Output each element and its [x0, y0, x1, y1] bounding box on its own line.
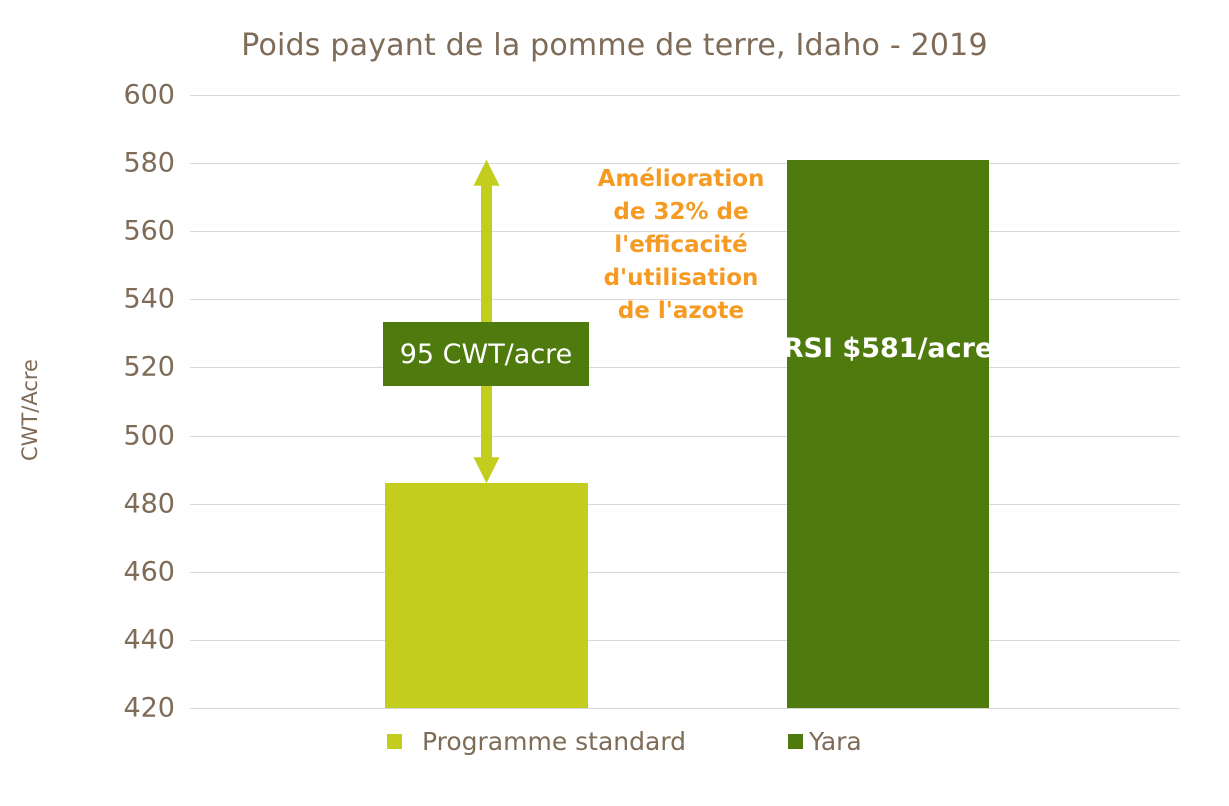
chart-title: Poids payant de la pomme de terre, Idaho… [0, 28, 1229, 63]
y-axis-tick-labels: 600580560540520500480460440420 [95, 95, 175, 708]
legend-label: Programme standard [422, 727, 686, 756]
annotation-line-1: Amélioration [583, 163, 779, 196]
gridline [190, 572, 1180, 573]
chart-container: Poids payant de la pomme de terre, Idaho… [0, 0, 1229, 806]
gridline [190, 640, 1180, 641]
yara-value-label-box: RSI $581/acre [787, 322, 989, 374]
gridline [190, 95, 1180, 96]
gridline [190, 708, 1180, 709]
difference-label-box: 95 CWT/acre [383, 322, 589, 386]
y-axis-tick-label: 580 [95, 148, 175, 179]
y-axis-tick-label: 480 [95, 488, 175, 519]
legend-label: Yara [809, 727, 862, 756]
annotation-line-4: d'utilisation [583, 262, 779, 295]
bar-yara[interactable] [787, 160, 989, 708]
y-axis-title-text: CWT/Acre [18, 359, 42, 461]
yara-value-label-text: RSI $581/acre [783, 333, 994, 364]
y-axis-tick-label: 440 [95, 624, 175, 655]
chart-legend: Programme standard Yara [0, 724, 1229, 758]
gridline [190, 436, 1180, 437]
difference-label-text: 95 CWT/acre [400, 339, 573, 370]
y-axis-tick-label: 500 [95, 420, 175, 451]
y-axis-tick-label: 600 [95, 80, 175, 111]
annotation-line-2: de 32% de [583, 196, 779, 229]
legend-swatch-icon [788, 734, 803, 749]
y-axis-tick-label: 540 [95, 284, 175, 315]
y-axis-tick-label: 560 [95, 216, 175, 247]
legend-swatch-icon [387, 734, 402, 749]
annotation-line-5: de l'azote [583, 295, 779, 328]
y-axis-tick-label: 460 [95, 556, 175, 587]
legend-item-programme-standard[interactable]: Programme standard [387, 724, 686, 758]
annotation-line-3: l'efficacité [583, 229, 779, 262]
nitrogen-efficiency-annotation: Amélioration de 32% de l'efficacité d'ut… [583, 163, 779, 328]
legend-item-yara[interactable]: Yara [788, 724, 862, 758]
y-axis-title: CWT/Acre [10, 300, 50, 520]
gridline [190, 367, 1180, 368]
y-axis-tick-label: 520 [95, 352, 175, 383]
bar-programme-standard[interactable] [385, 483, 588, 708]
y-axis-tick-label: 420 [95, 693, 175, 724]
gridline [190, 504, 1180, 505]
